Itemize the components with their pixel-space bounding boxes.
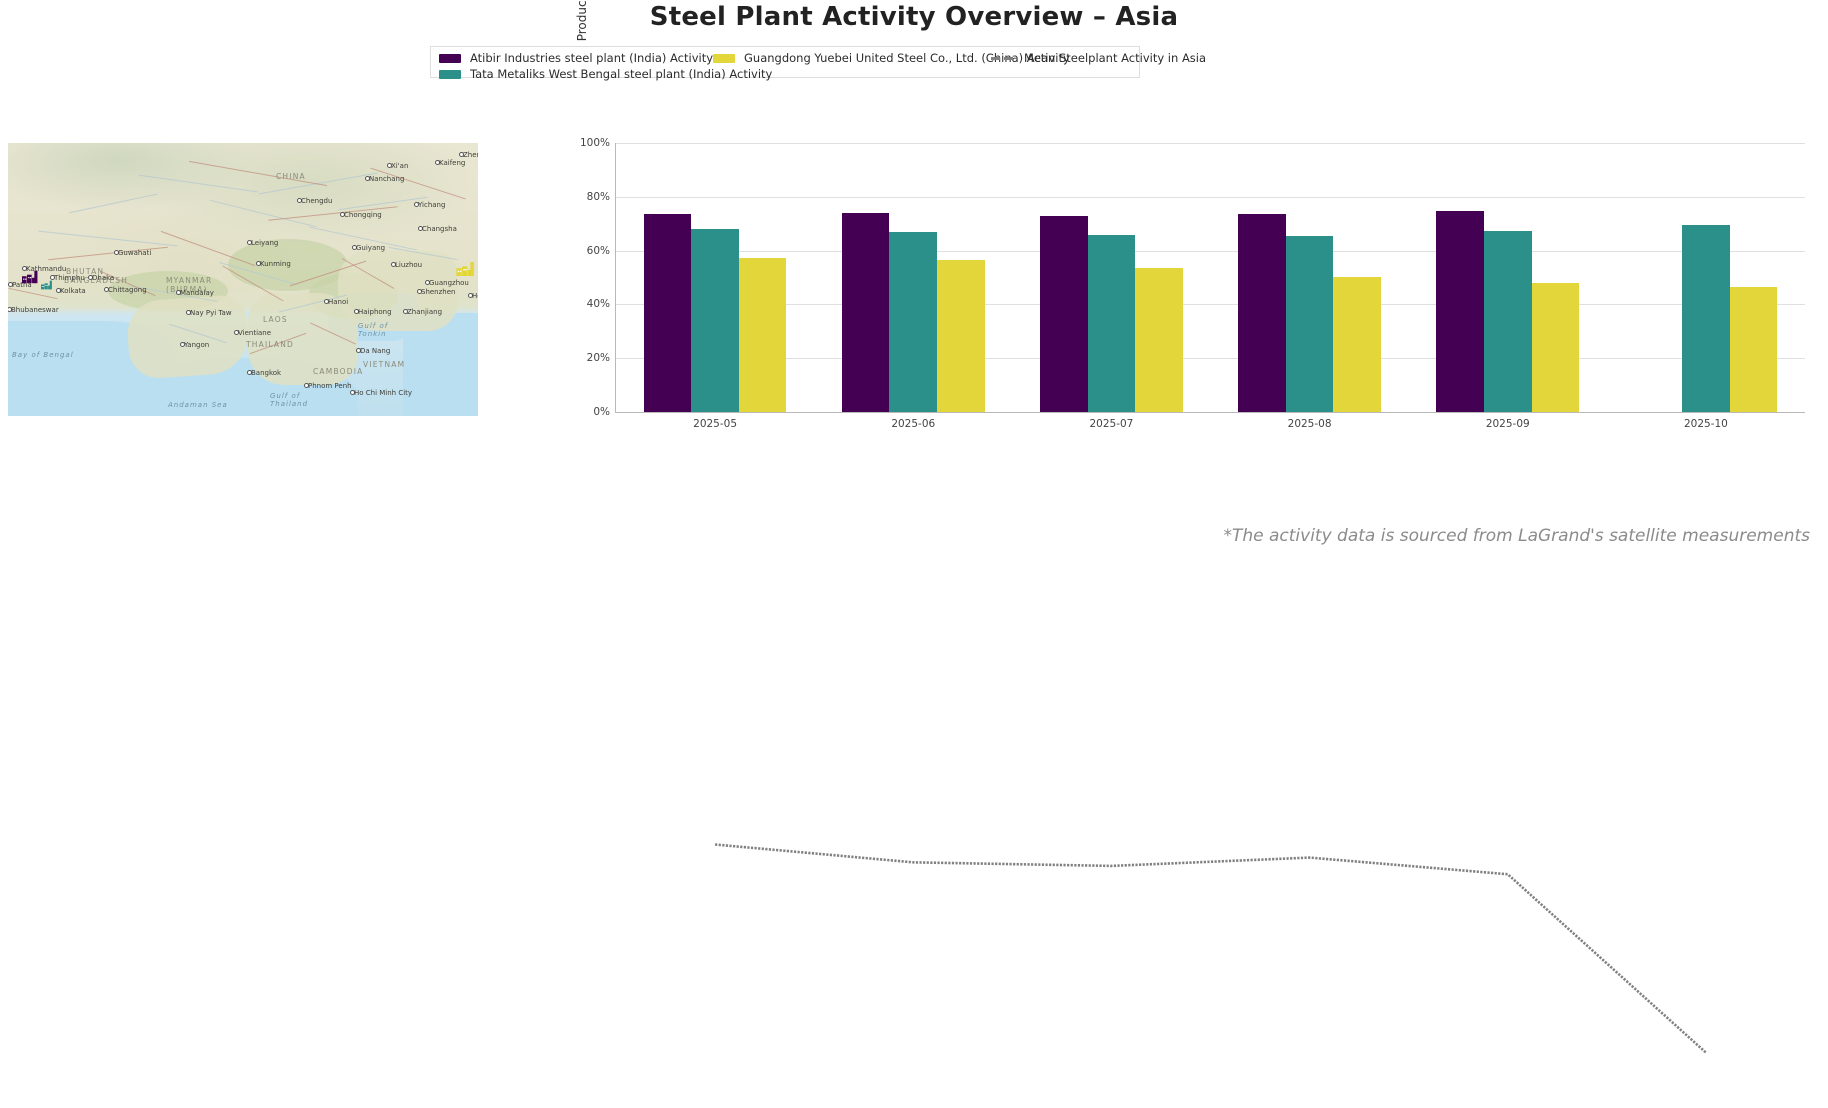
y-axis-tick-label: 100% <box>580 137 610 149</box>
map-region-label: LAOS <box>263 315 288 324</box>
map-city-label: Thimphu <box>54 274 85 282</box>
map-city-label: Guangzhou <box>429 279 469 287</box>
map-city-label: Shenzhen <box>421 288 455 296</box>
map-city-label: Zhanjiang <box>407 308 442 316</box>
map-city-label: Bhubaneswar <box>11 306 59 314</box>
x-axis-tick-label: 2025-05 <box>693 418 737 430</box>
map-city-label: Zhengzhou <box>463 151 478 159</box>
x-axis-tick-label: 2025-06 <box>891 418 935 430</box>
map-water-label: Gulf ofTonkin <box>358 322 388 338</box>
legend-item-label: Mean Steelplant Activity in Asia <box>1024 51 1206 65</box>
legend-item-4[interactable]: Mean Steelplant Activity in Asia <box>991 51 1206 65</box>
map-city-label: Hanoi <box>328 298 348 306</box>
legend-dashed-line-icon <box>991 54 1015 63</box>
guangdong-yuebei-marker[interactable] <box>455 261 477 275</box>
map-city-label: Xi'an <box>391 162 408 170</box>
x-axis-tick-label: 2025-07 <box>1089 418 1133 430</box>
map-city-label: Leiyang <box>251 239 278 247</box>
map-city-label: Nay Pyi Taw <box>190 309 232 317</box>
map-city-label: Hong Kong <box>472 292 478 300</box>
factory-icon <box>22 269 39 285</box>
chart-legend: Atibir Industries steel plant (India) Ac… <box>430 46 1140 78</box>
map-city-label: Ho Chi Minh City <box>354 389 412 397</box>
map-city-label: Liuzhou <box>395 261 422 269</box>
x-axis-tick-label: 2025-09 <box>1486 418 1530 430</box>
activity-bar-chart: Production Activity 0%20%40%60%80%100% 2… <box>575 135 1815 435</box>
map-city-label: Chongqing <box>344 211 382 219</box>
map-city-label: Yangon <box>184 341 209 349</box>
tata-metaliks-marker[interactable] <box>41 275 53 295</box>
map-city-label: Chengdu <box>301 197 332 205</box>
legend-swatch-icon <box>439 54 461 63</box>
legend-swatch-icon <box>439 70 461 79</box>
map-region-label: CAMBODIA <box>313 367 363 376</box>
map-city-label: Changsha <box>422 225 457 233</box>
map-city-label: Yichang <box>418 201 445 209</box>
factory-icon <box>41 275 53 295</box>
factory-icon <box>455 262 477 276</box>
map-city-label: Guiyang <box>356 244 385 252</box>
x-axis-tick-label: 2025-10 <box>1684 418 1728 430</box>
legend-item-2[interactable]: Tata Metaliks West Bengal steel plant (I… <box>439 67 772 81</box>
plot-area: 0%20%40%60%80%100% 2025-052025-062025-07… <box>615 143 1805 413</box>
map-region-label: CHINA <box>276 172 306 181</box>
map-city-label: Phnom Penh <box>308 382 352 390</box>
map-city-label: Bangkok <box>251 369 281 377</box>
map-city-label: Da Nang <box>360 347 390 355</box>
map-water-label: Bay of Bengal <box>12 351 74 359</box>
y-axis-tick-label: 60% <box>587 245 610 257</box>
y-axis-label: Production Activity <box>575 0 593 135</box>
map-water-label: Gulf ofThailand <box>270 392 308 408</box>
footnote-text: *The activity data is sourced from LaGra… <box>1223 526 1810 546</box>
map-city-label: Haiphong <box>358 308 392 316</box>
map-city-label: Kaifeng <box>439 159 465 167</box>
atibir-industries-marker[interactable] <box>22 269 39 285</box>
map-water-label: Andaman Sea <box>168 401 228 409</box>
y-axis-tick-label: 0% <box>593 406 610 418</box>
map-region-label: VIETNAM <box>363 360 405 369</box>
map-city-label: Mandalay <box>180 289 214 297</box>
map-city-label: Chittagong <box>108 286 147 294</box>
mean-activity-line <box>616 143 1805 1108</box>
map-city-label: Guwahati <box>118 249 151 257</box>
map-city-label: Nanchang <box>369 175 404 183</box>
legend-item-label: Tata Metaliks West Bengal steel plant (I… <box>470 67 772 81</box>
x-axis-tick-label: 2025-08 <box>1288 418 1332 430</box>
legend-swatch-icon <box>713 54 735 63</box>
map-region-label: THAILAND <box>246 340 294 349</box>
map-panel[interactable]: CHINABANGLADESHBHUTANMYANMAR(BURMA)LAOST… <box>8 143 478 416</box>
map-city-label: Vientiane <box>238 329 271 337</box>
map-city-label: Kunming <box>260 260 291 268</box>
y-axis-tick-label: 80% <box>587 191 610 203</box>
map-city-label: Dhaka <box>92 274 114 282</box>
map-city-label: Kolkata <box>60 287 86 295</box>
page-title: Steel Plant Activity Overview – Asia <box>0 2 1828 32</box>
y-axis-tick-label: 20% <box>587 352 610 364</box>
y-axis-tick-label: 40% <box>587 298 610 310</box>
